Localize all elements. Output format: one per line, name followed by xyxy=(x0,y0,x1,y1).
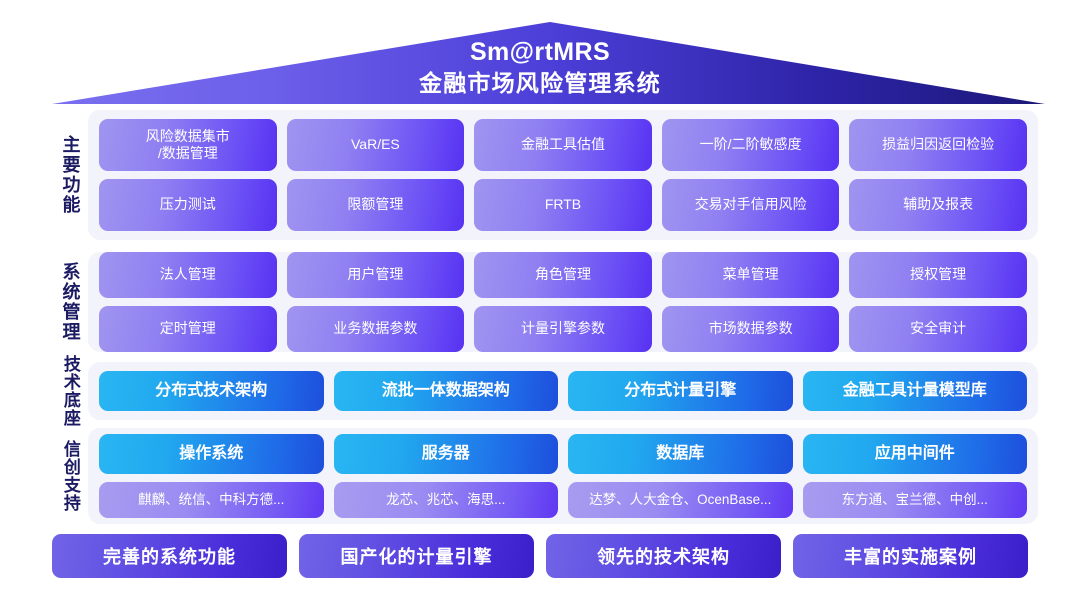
row-main-functions-2: 压力测试 限额管理 FRTB 交易对手信用风险 辅助及报表 xyxy=(99,179,1027,231)
card-distributed-calc-engine[interactable]: 分布式计量引擎 xyxy=(568,371,793,411)
card-middleware-vendors[interactable]: 东方通、宝兰德、中创... xyxy=(803,482,1028,518)
section-label-xinchuang-support: 信创支持 xyxy=(52,428,88,524)
card-risk-datamart[interactable]: 风险数据集市 /数据管理 xyxy=(99,119,277,171)
card-counterparty-credit-risk[interactable]: 交易对手信用风险 xyxy=(662,179,840,231)
card-instrument-valuation[interactable]: 金融工具估值 xyxy=(474,119,652,171)
panel-xinchuang-support: 操作系统 服务器 数据库 应用中间件 麒麟、统信、中科方德... 龙芯、兆芯、海… xyxy=(88,428,1038,524)
card-stream-batch-data-architecture[interactable]: 流批一体数据架构 xyxy=(334,371,559,411)
card-menu-management[interactable]: 菜单管理 xyxy=(662,252,840,298)
row-system-management-2: 定时管理 业务数据参数 计量引擎参数 市场数据参数 安全审计 xyxy=(99,306,1027,352)
card-var-es[interactable]: VaR/ES xyxy=(287,119,465,171)
banner-leading-tech-architecture[interactable]: 领先的技术架构 xyxy=(546,534,781,578)
row-xinchuang-headers: 操作系统 服务器 数据库 应用中间件 xyxy=(99,434,1027,474)
row-xinchuang-vendors: 麒麟、统信、中科方德... 龙芯、兆芯、海思... 达梦、人大金仓、OcenBa… xyxy=(99,482,1027,518)
banner-complete-system-functions[interactable]: 完善的系统功能 xyxy=(52,534,287,578)
card-database-vendors[interactable]: 达梦、人大金仓、OcenBase... xyxy=(568,482,793,518)
card-stress-test[interactable]: 压力测试 xyxy=(99,179,277,231)
row-system-management-1: 法人管理 用户管理 角色管理 菜单管理 授权管理 xyxy=(99,252,1027,298)
card-business-data-params[interactable]: 业务数据参数 xyxy=(287,306,465,352)
card-auxiliary-reports[interactable]: 辅助及报表 xyxy=(849,179,1027,231)
banner-rich-implementation-cases[interactable]: 丰富的实施案例 xyxy=(793,534,1028,578)
card-database[interactable]: 数据库 xyxy=(568,434,793,474)
card-limit-management[interactable]: 限额管理 xyxy=(287,179,465,231)
panel-main-functions: 风险数据集市 /数据管理 VaR/ES 金融工具估值 一阶/二阶敏感度 损益归因… xyxy=(88,110,1038,240)
section-main-functions: 主要功能 风险数据集市 /数据管理 VaR/ES 金融工具估值 一阶/二阶敏感度… xyxy=(52,110,1038,240)
roof-header: Sm@rtMRS 金融市场风险管理系统 xyxy=(0,0,1080,108)
section-label-tech-foundation: 技术底座 xyxy=(52,362,88,420)
card-os-vendors[interactable]: 麒麟、统信、中科方德... xyxy=(99,482,324,518)
section-system-management: 系统管理 法人管理 用户管理 角色管理 菜单管理 授权管理 定时管理 业务数据参… xyxy=(52,252,1038,352)
panel-tech-foundation: 分布式技术架构 流批一体数据架构 分布式计量引擎 金融工具计量模型库 xyxy=(88,362,1038,420)
card-server-vendors[interactable]: 龙芯、兆芯、海思... xyxy=(334,482,559,518)
roof-shape xyxy=(0,0,1080,108)
row-tech-foundation: 分布式技术架构 流批一体数据架构 分布式计量引擎 金融工具计量模型库 xyxy=(99,371,1027,411)
card-security-audit[interactable]: 安全审计 xyxy=(849,306,1027,352)
card-calc-engine-params[interactable]: 计量引擎参数 xyxy=(474,306,652,352)
card-frtb[interactable]: FRTB xyxy=(474,179,652,231)
card-user-management[interactable]: 用户管理 xyxy=(287,252,465,298)
card-distributed-architecture[interactable]: 分布式技术架构 xyxy=(99,371,324,411)
row-main-functions-1: 风险数据集市 /数据管理 VaR/ES 金融工具估值 一阶/二阶敏感度 损益归因… xyxy=(99,119,1027,171)
card-operating-system[interactable]: 操作系统 xyxy=(99,434,324,474)
banner-domestic-calc-engine[interactable]: 国产化的计量引擎 xyxy=(299,534,534,578)
card-middleware[interactable]: 应用中间件 xyxy=(803,434,1028,474)
card-market-data-params[interactable]: 市场数据参数 xyxy=(662,306,840,352)
section-label-system-management: 系统管理 xyxy=(52,252,88,352)
card-role-management[interactable]: 角色管理 xyxy=(474,252,652,298)
card-instrument-model-library[interactable]: 金融工具计量模型库 xyxy=(803,371,1028,411)
card-sensitivity[interactable]: 一阶/二阶敏感度 xyxy=(662,119,840,171)
card-server[interactable]: 服务器 xyxy=(334,434,559,474)
card-pnl-attribution-backtest[interactable]: 损益归因返回检验 xyxy=(849,119,1027,171)
card-authorization-management[interactable]: 授权管理 xyxy=(849,252,1027,298)
section-tech-foundation: 技术底座 分布式技术架构 流批一体数据架构 分布式计量引擎 金融工具计量模型库 xyxy=(52,362,1038,420)
section-label-main-functions: 主要功能 xyxy=(52,110,88,240)
bottom-banner-row: 完善的系统功能 国产化的计量引擎 领先的技术架构 丰富的实施案例 xyxy=(52,534,1028,578)
card-scheduler-management[interactable]: 定时管理 xyxy=(99,306,277,352)
panel-system-management: 法人管理 用户管理 角色管理 菜单管理 授权管理 定时管理 业务数据参数 计量引… xyxy=(88,252,1038,352)
section-xinchuang-support: 信创支持 操作系统 服务器 数据库 应用中间件 麒麟、统信、中科方德... 龙芯… xyxy=(52,428,1038,524)
card-legal-entity-management[interactable]: 法人管理 xyxy=(99,252,277,298)
